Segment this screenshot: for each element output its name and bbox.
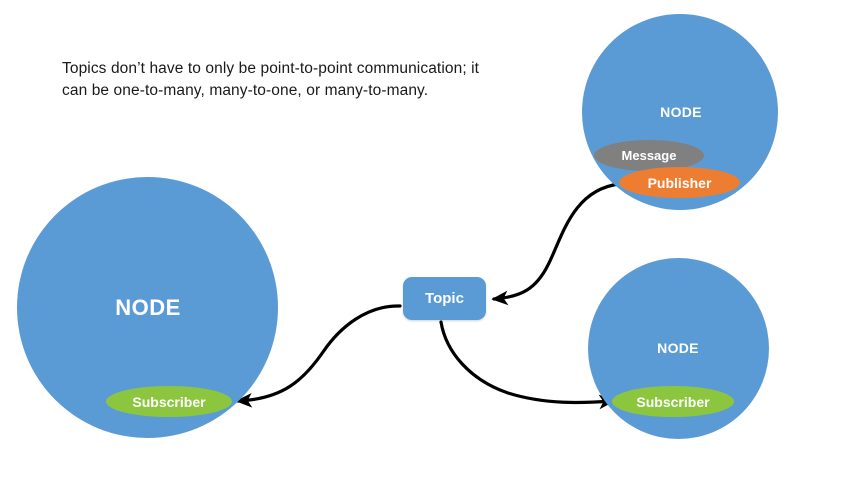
endpoint-subscriber-bottom-right[interactable]: Subscriber [612,386,734,417]
node-publisher-top-right-label: NODE [660,104,702,120]
topic-box[interactable]: Topic [403,277,486,320]
edge-topic-to-subscriber-bottom-right [441,322,613,403]
node-subscriber-bottom-right-label: NODE [657,340,699,356]
caption-text: Topics don’t have to only be point-to-po… [62,58,492,103]
endpoint-subscriber-left[interactable]: Subscriber [106,386,232,417]
diagram-canvas: Topics don’t have to only be point-to-po… [0,0,854,480]
endpoint-publisher[interactable]: Publisher [619,167,740,198]
node-subscriber-left-label: NODE [115,295,181,321]
edge-publisher-to-topic [494,184,619,299]
